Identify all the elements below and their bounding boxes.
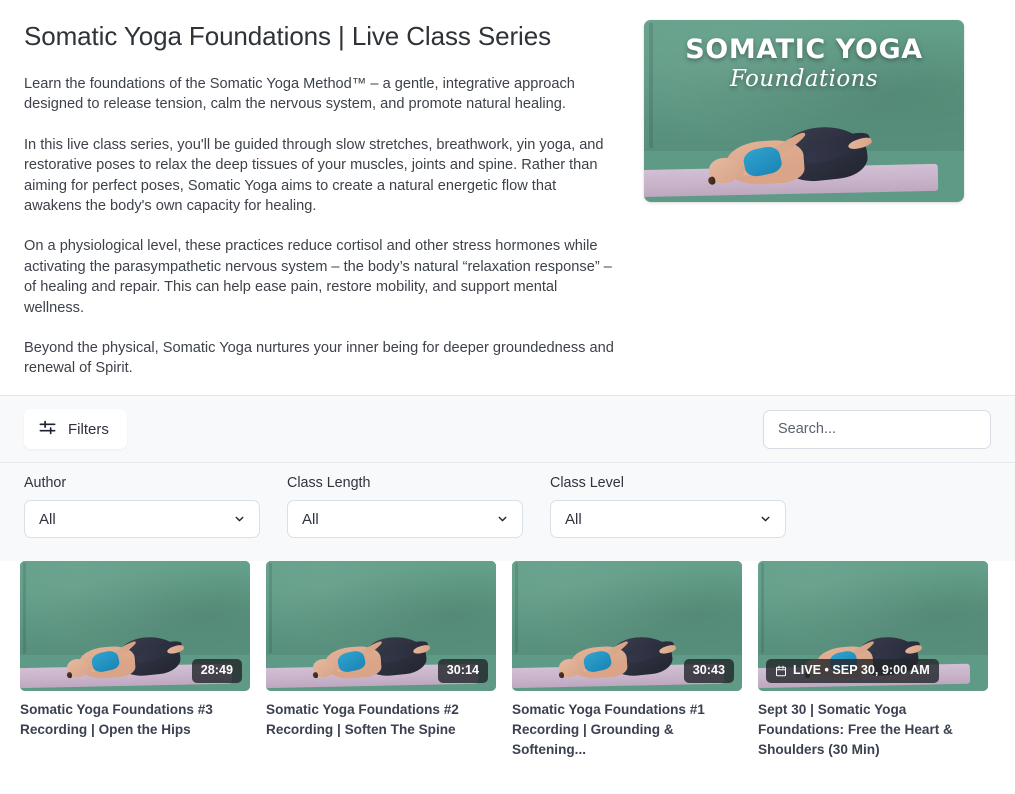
filter-dropdowns: Author All Class Length All Class Level … xyxy=(0,463,1015,561)
page-title: Somatic Yoga Foundations | Live Class Se… xyxy=(24,22,626,52)
filter-group-class-length: Class Length All xyxy=(287,475,523,541)
video-card[interactable]: 30:43 Somatic Yoga Foundations #1 Record… xyxy=(512,561,742,760)
description-paragraph-3: On a physiological level, these practice… xyxy=(24,236,614,318)
yoga-photo xyxy=(644,20,964,202)
filter-group-class-level: Class Level All xyxy=(550,475,786,541)
chevron-down-icon xyxy=(496,513,509,526)
author-filter-value: All xyxy=(39,511,56,528)
video-card[interactable]: LIVE • SEP 30, 9:00 AM Sept 30 | Somatic… xyxy=(758,561,988,760)
video-thumbnail[interactable]: 30:14 xyxy=(266,561,496,691)
description-paragraph-2: In this live class series, you'll be gui… xyxy=(24,135,614,217)
class-length-filter-label: Class Length xyxy=(287,475,523,491)
author-filter-label: Author xyxy=(24,475,260,491)
video-library-page: Somatic Yoga Foundations | Live Class Se… xyxy=(0,0,1015,794)
course-description-section: Somatic Yoga Foundations | Live Class Se… xyxy=(0,0,1015,396)
description-paragraph-1: Learn the foundations of the Somatic Yog… xyxy=(24,74,614,115)
chevron-down-icon xyxy=(233,513,246,526)
chevron-down-icon xyxy=(759,513,772,526)
filter-group-author: Author All xyxy=(24,475,260,541)
duration-badge: 28:49 xyxy=(192,659,242,683)
sliders-icon xyxy=(38,418,57,440)
class-length-filter-value: All xyxy=(302,511,319,528)
video-title: Somatic Yoga Foundations #2 Recording | … xyxy=(266,700,496,740)
video-title: Somatic Yoga Foundations #1 Recording | … xyxy=(512,700,742,760)
duration-badge: 30:43 xyxy=(684,659,734,683)
video-card[interactable]: 28:49 Somatic Yoga Foundations #3 Record… xyxy=(20,561,250,760)
live-badge: LIVE • SEP 30, 9:00 AM xyxy=(766,659,939,683)
filters-button[interactable]: Filters xyxy=(24,409,127,449)
class-length-filter-select[interactable]: All xyxy=(287,500,523,538)
duration-badge: 30:14 xyxy=(438,659,488,683)
calendar-icon xyxy=(775,665,787,677)
author-filter-select[interactable]: All xyxy=(24,500,260,538)
filters-button-label: Filters xyxy=(68,421,109,438)
course-hero-image: SOMATIC YOGA Foundations xyxy=(644,20,964,202)
filter-toolbar: Filters xyxy=(0,396,1015,463)
description-paragraph-4: Beyond the physical, Somatic Yoga nurtur… xyxy=(24,338,614,379)
class-level-filter-select[interactable]: All xyxy=(550,500,786,538)
search-input[interactable] xyxy=(763,410,991,449)
video-card[interactable]: 30:14 Somatic Yoga Foundations #2 Record… xyxy=(266,561,496,760)
live-badge-label: LIVE • SEP 30, 9:00 AM xyxy=(793,663,930,679)
video-card-grid: 28:49 Somatic Yoga Foundations #3 Record… xyxy=(0,561,1015,760)
class-level-filter-value: All xyxy=(565,511,582,528)
video-title: Somatic Yoga Foundations #3 Recording | … xyxy=(20,700,250,740)
class-level-filter-label: Class Level xyxy=(550,475,786,491)
video-thumbnail[interactable]: 30:43 xyxy=(512,561,742,691)
video-thumbnail[interactable]: LIVE • SEP 30, 9:00 AM xyxy=(758,561,988,691)
course-description-text: Somatic Yoga Foundations | Live Class Se… xyxy=(24,18,644,371)
video-thumbnail[interactable]: 28:49 xyxy=(20,561,250,691)
course-hero-media: SOMATIC YOGA Foundations xyxy=(644,18,991,371)
video-title: Sept 30 | Somatic Yoga Foundations: Free… xyxy=(758,700,988,760)
